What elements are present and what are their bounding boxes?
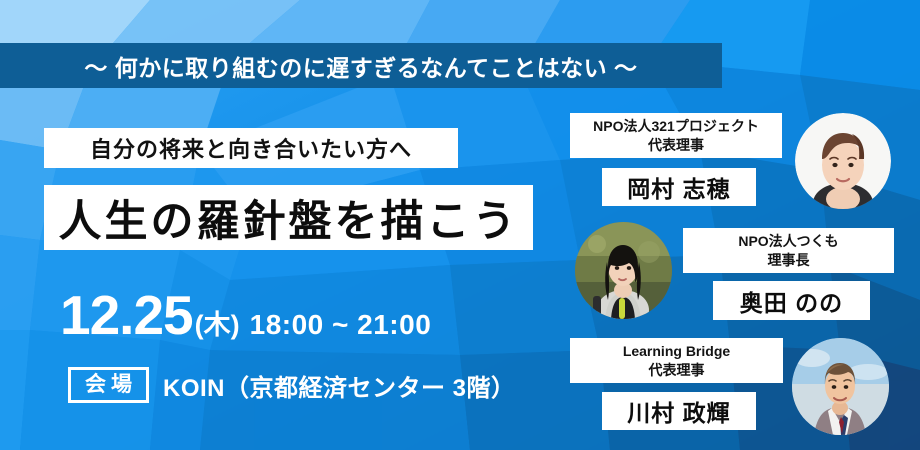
tagline-text: 〜 何かに取り組むのに遅すぎるなんてことはない 〜	[84, 49, 637, 83]
speaker-3-avatar	[792, 338, 889, 435]
event-day-of-week: (木)	[195, 303, 240, 342]
event-date: 12.25 (木) 18:00 ~ 21:00	[60, 288, 431, 343]
venue-name: KOIN（京都経済センター 3階）	[163, 368, 516, 403]
page-title: 人生の羅針盤を描こう	[59, 187, 519, 249]
tagline-ribbon: 〜 何かに取り組むのに遅すぎるなんてことはない 〜	[0, 43, 722, 88]
speaker-2-name: 奥田 のの	[740, 284, 843, 318]
speaker-1-org: NPO法人321プロジェクト	[593, 117, 759, 136]
speaker-2-role: 理事長	[768, 251, 810, 270]
speaker-1-affiliation-box: NPO法人321プロジェクト 代表理事	[570, 113, 782, 158]
subtitle-text: 自分の将来と向き合いたい方へ	[90, 132, 412, 164]
event-date-number: 12.25	[60, 288, 193, 343]
speaker-3-name: 川村 政輝	[627, 394, 730, 428]
title-box: 人生の羅針盤を描こう	[44, 185, 533, 250]
venue-label: 会場	[68, 367, 149, 403]
subtitle-box: 自分の将来と向き合いたい方へ	[44, 128, 458, 168]
speaker-3-org: Learning Bridge	[623, 342, 730, 361]
speaker-1-role: 代表理事	[648, 136, 704, 155]
speaker-1-avatar	[795, 113, 891, 209]
speaker-1-name: 岡村 志穂	[627, 170, 730, 204]
speaker-2-org: NPO法人つくも	[738, 232, 838, 251]
speaker-2-affiliation-box: NPO法人つくも 理事長	[683, 228, 894, 273]
event-banner: 〜 何かに取り組むのに遅すぎるなんてことはない 〜 自分の将来と向き合いたい方へ…	[0, 0, 920, 450]
event-time: 18:00 ~ 21:00	[250, 309, 432, 341]
speaker-3-name-box: 川村 政輝	[602, 392, 756, 430]
speaker-2-name-box: 奥田 のの	[713, 281, 870, 320]
speaker-3-role: 代表理事	[649, 361, 705, 380]
speaker-2-avatar	[575, 222, 672, 319]
speaker-3-affiliation-box: Learning Bridge 代表理事	[570, 338, 783, 383]
venue-row: 会場 KOIN（京都経済センター 3階）	[68, 367, 516, 403]
speaker-1-name-box: 岡村 志穂	[602, 168, 756, 206]
